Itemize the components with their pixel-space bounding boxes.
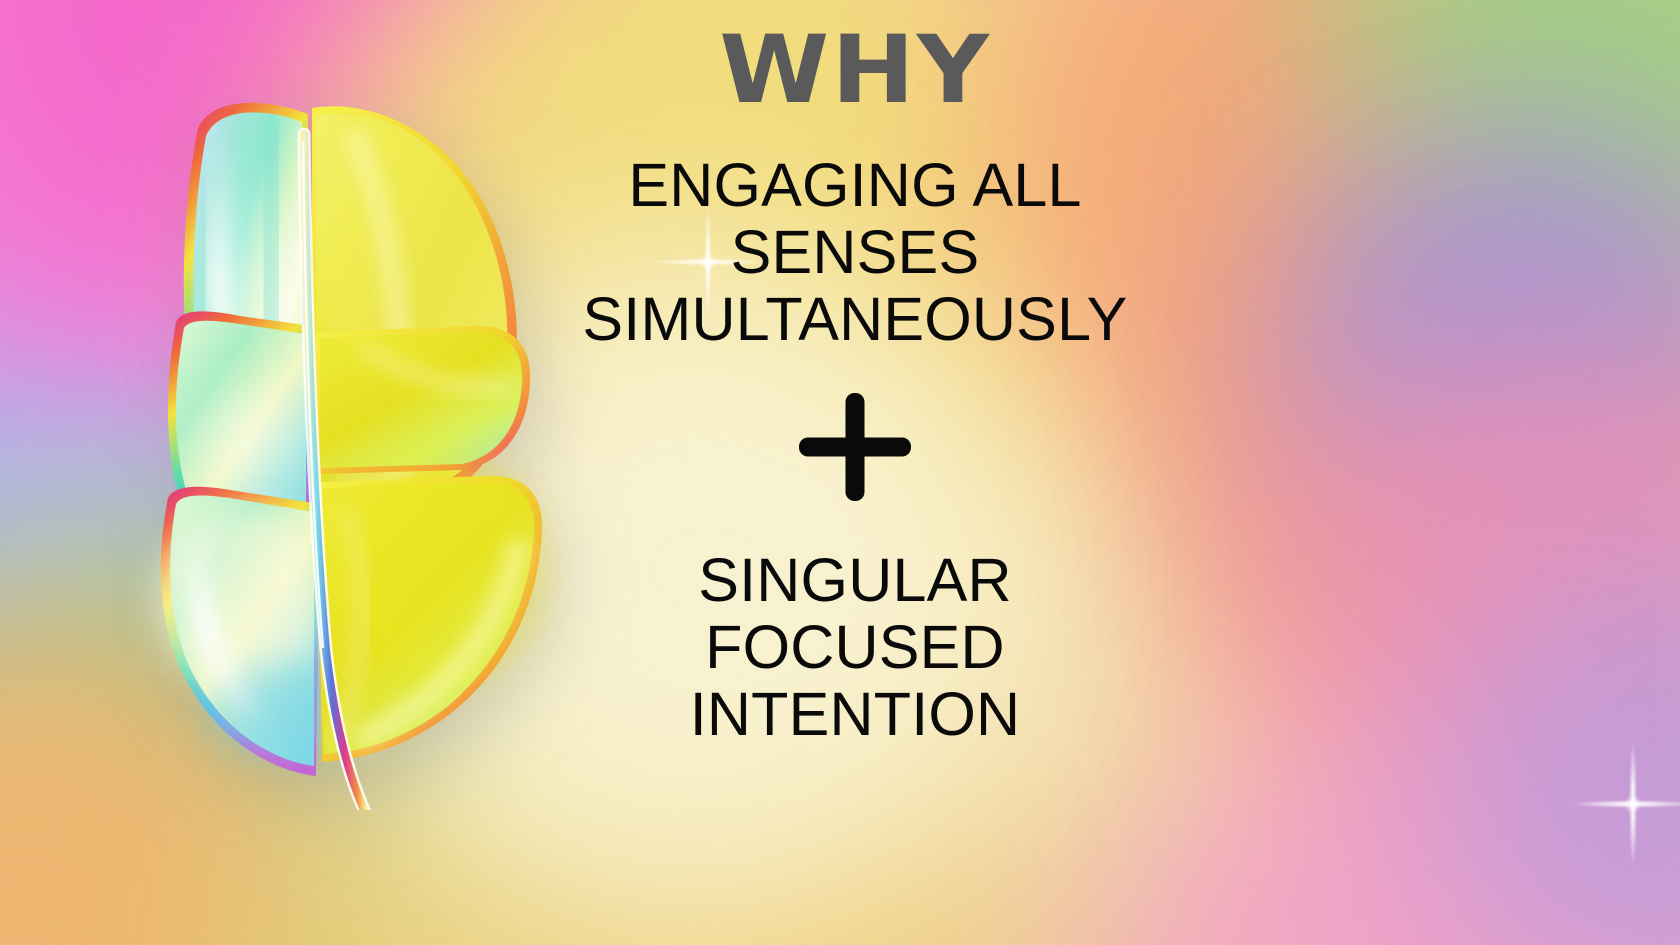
page-title-why: WHY (719, 20, 991, 122)
headline-primary: ENGAGING ALL SENSES SIMULTANEOUSLY (582, 152, 1127, 353)
text-column: WHY ENGAGING ALL SENSES SIMULTANEOUSLY S… (470, 0, 1240, 945)
background-blob-pink-right (1270, 330, 1680, 850)
background-blob-green-top-right (1330, 0, 1680, 290)
background-blob-purple-top-right (1290, 120, 1680, 550)
headline-secondary: SINGULAR FOCUSED INTENTION (690, 547, 1021, 748)
slide-canvas: WHY ENGAGING ALL SENSES SIMULTANEOUSLY S… (0, 0, 1680, 945)
sparkle-icon (1567, 738, 1680, 870)
plus-vertical-bar (846, 393, 865, 501)
sparkle-vertical-ray (1629, 740, 1637, 868)
background-blob-lavender-bottom-right (1430, 540, 1680, 945)
sparkle-core (1624, 795, 1642, 813)
sparkle-horizontal-ray (1569, 800, 1680, 808)
plus-icon (799, 393, 911, 501)
